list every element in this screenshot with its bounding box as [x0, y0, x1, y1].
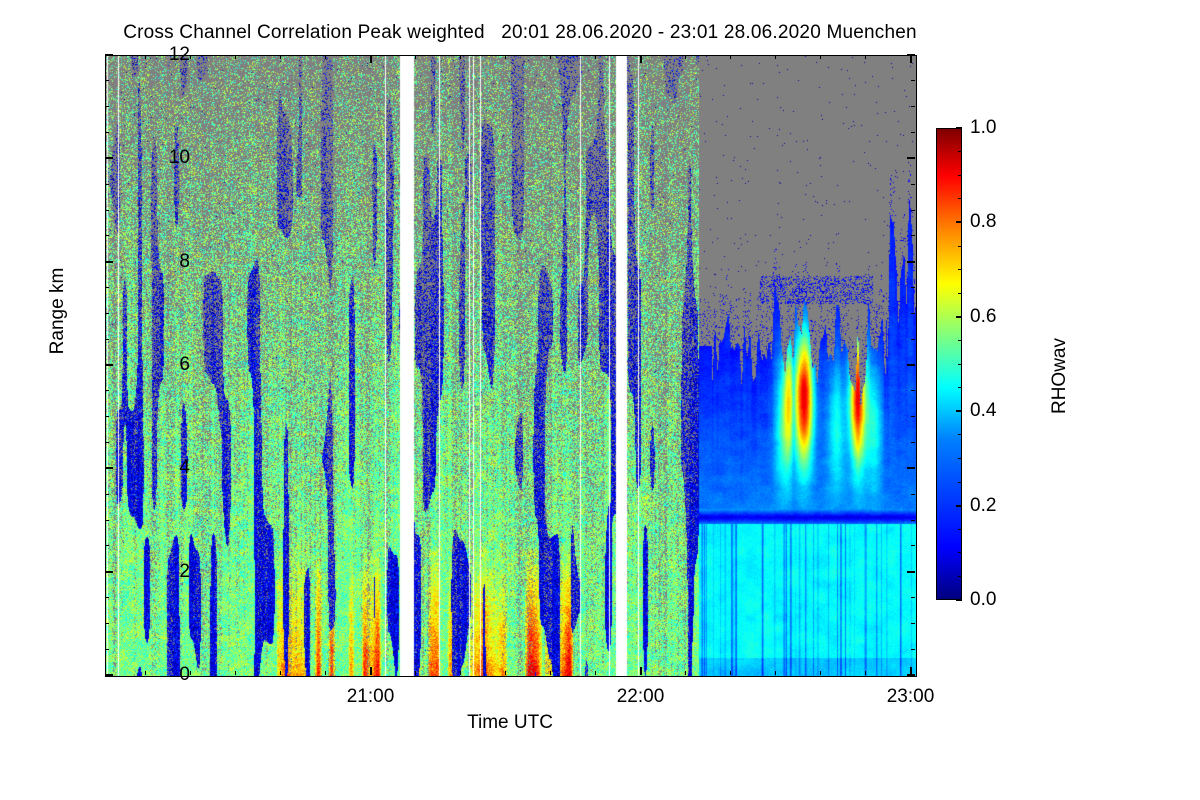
colorbar-minor-tick — [958, 434, 962, 435]
x-tick — [370, 667, 372, 675]
x-minor-tick — [235, 55, 236, 59]
y-minor-tick — [105, 210, 109, 211]
colorbar-title: RHOwav — [1049, 316, 1071, 436]
heatmap-plot-area — [105, 55, 917, 677]
y-minor-tick — [911, 132, 915, 133]
y-minor-tick — [105, 106, 109, 107]
x-minor-tick — [550, 55, 551, 59]
y-minor-tick — [911, 80, 915, 81]
y-minor-tick — [105, 184, 109, 185]
y-tick — [105, 54, 113, 56]
x-minor-tick — [595, 671, 596, 675]
colorbar-tick-label: 0.0 — [970, 589, 996, 611]
colorbar-tick-label: 1.0 — [970, 117, 996, 139]
y-minor-tick — [105, 494, 109, 495]
y-minor-tick — [911, 106, 915, 107]
x-minor-tick — [685, 671, 686, 675]
x-tick — [640, 55, 642, 63]
y-tick — [907, 364, 915, 366]
x-minor-tick — [550, 671, 551, 675]
colorbar-minor-tick — [958, 364, 962, 365]
colorbar-minor-tick — [958, 576, 962, 577]
y-minor-tick — [911, 545, 915, 546]
y-minor-tick — [911, 649, 915, 650]
colorbar-minor-tick — [958, 458, 962, 459]
y-minor-tick — [911, 235, 915, 236]
x-minor-tick — [280, 55, 281, 59]
colorbar-tick — [956, 221, 962, 223]
colorbar-tick-label: 0.4 — [970, 400, 996, 422]
y-tick-label: 8 — [130, 251, 190, 273]
y-minor-tick — [911, 390, 915, 391]
x-tick — [640, 667, 642, 675]
y-minor-tick — [911, 597, 915, 598]
colorbar-minor-tick — [958, 552, 962, 553]
colorbar-tick — [956, 316, 962, 318]
x-minor-tick — [820, 55, 821, 59]
x-minor-tick — [775, 55, 776, 59]
colorbar-tick — [956, 127, 962, 129]
x-minor-tick — [775, 671, 776, 675]
y-minor-tick — [105, 545, 109, 546]
y-tick-label: 6 — [130, 354, 190, 376]
y-tick — [105, 674, 113, 676]
x-minor-tick — [730, 55, 731, 59]
y-minor-tick — [105, 520, 109, 521]
y-minor-tick — [911, 442, 915, 443]
x-minor-tick — [595, 55, 596, 59]
y-tick — [105, 571, 113, 573]
y-tick — [907, 157, 915, 159]
colorbar-tick — [956, 505, 962, 507]
colorbar-tick-label: 0.6 — [970, 306, 996, 328]
x-minor-tick — [145, 671, 146, 675]
y-minor-tick — [105, 597, 109, 598]
colorbar-minor-tick — [958, 198, 962, 199]
colorbar-tick-label: 0.2 — [970, 495, 996, 517]
y-minor-tick — [911, 339, 915, 340]
x-minor-tick — [730, 671, 731, 675]
x-tick — [910, 55, 912, 63]
x-minor-tick — [460, 671, 461, 675]
y-tick — [105, 157, 113, 159]
y-tick-label: 2 — [130, 561, 190, 583]
x-axis-label: Time UTC — [0, 712, 1020, 734]
x-minor-tick — [415, 55, 416, 59]
x-minor-tick — [325, 55, 326, 59]
x-minor-tick — [505, 55, 506, 59]
colorbar-minor-tick — [958, 482, 962, 483]
y-tick — [907, 261, 915, 263]
y-minor-tick — [105, 80, 109, 81]
colorbar-minor-tick — [958, 151, 962, 152]
colorbar-minor-tick — [958, 293, 962, 294]
y-minor-tick — [105, 623, 109, 624]
x-minor-tick — [820, 671, 821, 675]
y-minor-tick — [911, 184, 915, 185]
colorbar-minor-tick — [958, 387, 962, 388]
x-tick-label: 22:00 — [581, 686, 701, 708]
x-minor-tick — [190, 671, 191, 675]
figure: Cross Channel Correlation Peak weighted … — [0, 0, 1200, 800]
x-minor-tick — [190, 55, 191, 59]
x-minor-tick — [145, 55, 146, 59]
x-minor-tick — [505, 671, 506, 675]
x-minor-tick — [460, 55, 461, 59]
y-minor-tick — [911, 623, 915, 624]
y-tick — [105, 261, 113, 263]
heatmap-canvas — [106, 56, 916, 676]
y-tick-label: 4 — [130, 457, 190, 479]
y-minor-tick — [105, 287, 109, 288]
y-tick — [105, 364, 113, 366]
y-minor-tick — [911, 416, 915, 417]
x-tick-label: 23:00 — [851, 686, 971, 708]
y-minor-tick — [911, 520, 915, 521]
y-minor-tick — [105, 416, 109, 417]
y-tick — [105, 467, 113, 469]
x-minor-tick — [235, 671, 236, 675]
colorbar-minor-tick — [958, 340, 962, 341]
colorbar-minor-tick — [958, 246, 962, 247]
y-tick — [907, 467, 915, 469]
x-minor-tick — [415, 671, 416, 675]
y-axis-label: Range km — [47, 241, 69, 381]
y-tick-label: 10 — [130, 147, 190, 169]
x-minor-tick — [865, 55, 866, 59]
y-minor-tick — [911, 287, 915, 288]
x-tick — [370, 55, 372, 63]
x-minor-tick — [865, 671, 866, 675]
colorbar-minor-tick — [958, 529, 962, 530]
y-tick-label: 12 — [130, 44, 190, 66]
colorbar-tick-label: 0.8 — [970, 211, 996, 233]
y-minor-tick — [911, 494, 915, 495]
y-minor-tick — [105, 313, 109, 314]
y-minor-tick — [105, 442, 109, 443]
colorbar-tick — [956, 410, 962, 412]
colorbar-minor-tick — [958, 269, 962, 270]
colorbar-minor-tick — [958, 175, 962, 176]
colorbar-tick — [956, 599, 962, 601]
y-minor-tick — [105, 339, 109, 340]
y-minor-tick — [105, 390, 109, 391]
x-minor-tick — [325, 671, 326, 675]
y-minor-tick — [911, 313, 915, 314]
x-minor-tick — [685, 55, 686, 59]
chart-title: Cross Channel Correlation Peak weighted … — [0, 22, 1040, 44]
x-minor-tick — [280, 671, 281, 675]
y-tick — [907, 571, 915, 573]
y-minor-tick — [105, 649, 109, 650]
x-tick — [910, 667, 912, 675]
y-tick-label: 0 — [130, 664, 190, 686]
x-tick-label: 21:00 — [311, 686, 431, 708]
y-minor-tick — [911, 210, 915, 211]
y-minor-tick — [105, 235, 109, 236]
y-minor-tick — [105, 132, 109, 133]
